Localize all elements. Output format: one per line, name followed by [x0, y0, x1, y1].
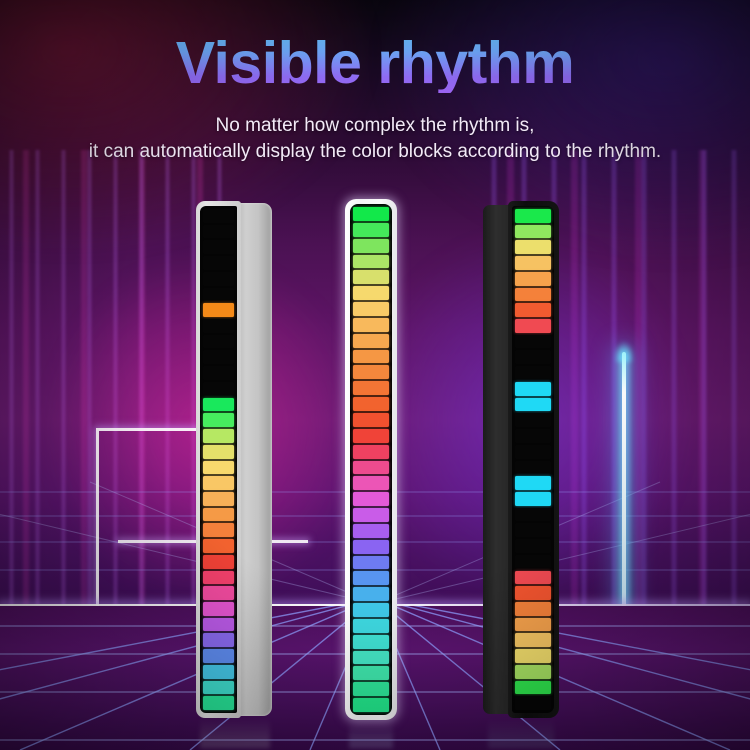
led-segment — [515, 366, 551, 380]
led-segment — [353, 429, 389, 443]
led-segment — [203, 476, 234, 490]
rgb-light-bar-white[interactable] — [345, 199, 397, 720]
led-segment — [353, 619, 389, 633]
led-segment — [353, 603, 389, 617]
led-segment — [203, 696, 234, 710]
led-segment — [515, 335, 551, 349]
led-segment — [353, 698, 389, 712]
led-segment — [353, 207, 389, 221]
led-segment — [203, 319, 234, 333]
led-segment — [353, 350, 389, 364]
led-segment — [515, 633, 551, 647]
led-segment — [515, 586, 551, 600]
vertical-neon-strip — [622, 352, 626, 642]
led-segment — [353, 666, 389, 680]
led-segment — [515, 240, 551, 254]
led-segment — [515, 413, 551, 427]
led-segment — [203, 571, 234, 585]
led-segment — [515, 571, 551, 585]
page-title: Visible rhythm — [0, 34, 750, 93]
led-segment — [353, 445, 389, 459]
led-segment — [515, 539, 551, 553]
led-segment — [515, 256, 551, 270]
rgb-light-bar-black[interactable] — [483, 201, 559, 718]
led-segment — [353, 223, 389, 237]
led-segment — [515, 461, 551, 475]
led-segment — [203, 240, 234, 254]
led-segment — [515, 272, 551, 286]
led-segment — [515, 665, 551, 679]
led-segment — [353, 492, 389, 506]
led-segment — [515, 555, 551, 569]
led-segment — [203, 586, 234, 600]
led-segment — [515, 696, 551, 710]
led-segment — [515, 508, 551, 522]
led-segment — [203, 602, 234, 616]
led-segment — [353, 397, 389, 411]
led-segment — [515, 350, 551, 364]
led-segment — [353, 571, 389, 585]
led-segment — [203, 618, 234, 632]
led-segment — [353, 286, 389, 300]
led-segment — [203, 288, 234, 302]
led-segment — [203, 508, 234, 522]
led-segment — [353, 334, 389, 348]
led-segment — [353, 270, 389, 284]
led-segment — [515, 476, 551, 490]
led-segment — [203, 633, 234, 647]
led-segment — [353, 318, 389, 332]
rgb-light-bar-silver[interactable] — [196, 201, 274, 718]
led-segment — [353, 302, 389, 316]
led-segment — [203, 445, 234, 459]
led-segment — [353, 635, 389, 649]
led-segment — [353, 508, 389, 522]
led-segment — [353, 461, 389, 475]
led-segment — [203, 303, 234, 317]
led-segment — [203, 681, 234, 695]
led-segment — [515, 681, 551, 695]
led-segment — [515, 382, 551, 396]
led-segment — [203, 429, 234, 443]
led-segment — [203, 539, 234, 553]
led-segment — [515, 225, 551, 239]
led-segment — [353, 365, 389, 379]
led-segment — [515, 445, 551, 459]
led-segment — [353, 413, 389, 427]
led-segment — [353, 540, 389, 554]
led-segment — [203, 398, 234, 412]
led-segment — [203, 555, 234, 569]
led-segment — [203, 523, 234, 537]
led-segment — [515, 288, 551, 302]
subtitle-line-1: No matter how complex the rhythm is, — [0, 114, 750, 138]
device-side-panel — [236, 203, 272, 716]
led-segment — [515, 649, 551, 663]
led-segment — [203, 649, 234, 663]
led-segment — [515, 319, 551, 333]
led-segment — [203, 665, 234, 679]
led-segment — [203, 272, 234, 286]
led-segment — [203, 492, 234, 506]
led-segment — [353, 651, 389, 665]
led-segment — [515, 618, 551, 632]
led-segment — [203, 461, 234, 475]
led-segment — [515, 523, 551, 537]
led-segment — [353, 476, 389, 490]
led-segment — [203, 209, 234, 223]
led-face — [350, 204, 392, 715]
led-segment — [353, 239, 389, 253]
led-segment — [353, 381, 389, 395]
promo-image: Visible rhythm No matter how complex the… — [0, 0, 750, 750]
led-segment — [515, 492, 551, 506]
subtitle-line-2: it can automatically display the color b… — [0, 140, 750, 164]
led-segment — [353, 524, 389, 538]
led-segment — [353, 255, 389, 269]
led-segment — [203, 256, 234, 270]
led-segment — [515, 429, 551, 443]
led-segment — [203, 225, 234, 239]
led-segment — [515, 303, 551, 317]
led-segment — [515, 398, 551, 412]
led-segment — [515, 209, 551, 223]
led-segment — [515, 602, 551, 616]
led-face — [200, 206, 237, 713]
led-segment — [203, 366, 234, 380]
led-segment — [203, 350, 234, 364]
led-segment — [353, 682, 389, 696]
led-face — [512, 206, 554, 713]
led-segment — [203, 382, 234, 396]
led-segment — [203, 413, 234, 427]
led-segment — [353, 587, 389, 601]
led-segment — [353, 556, 389, 570]
led-segment — [203, 335, 234, 349]
